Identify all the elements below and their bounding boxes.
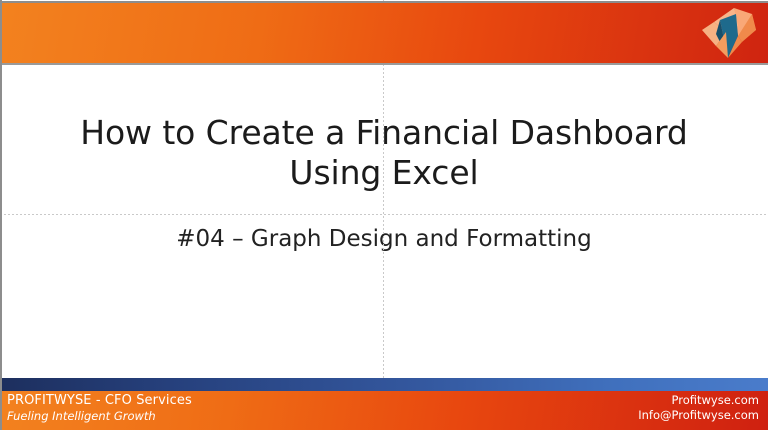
slide-subtitle-text: #04 – Graph Design and Formatting <box>0 224 768 254</box>
slide-title-text: How to Create a Financial Dashboard Usin… <box>0 113 768 193</box>
footer-branding: PROFITWYSE - CFO Services Fueling Intell… <box>7 393 192 424</box>
slide-subtitle: #04 – Graph Design and Formatting <box>0 224 768 254</box>
slide-header-banner <box>0 1 768 65</box>
slide-footer: PROFITWYSE - CFO Services Fueling Intell… <box>0 378 768 430</box>
page-title: How to Create a Financial Dashboard Usin… <box>0 113 768 193</box>
footer-contact: Profitwyse.com Info@Profitwyse.com <box>638 393 759 423</box>
footer-tagline: Fueling Intelligent Growth <box>7 409 192 424</box>
slide-left-edge <box>0 0 2 430</box>
presentation-slide: How to Create a Financial Dashboard Usin… <box>0 0 768 430</box>
footer-blue-bar <box>0 378 768 391</box>
guide-line-horizontal <box>0 214 768 215</box>
profitwyse-diamond-logo-icon <box>698 2 760 60</box>
footer-email[interactable]: Info@Profitwyse.com <box>638 408 759 423</box>
footer-website[interactable]: Profitwyse.com <box>638 393 759 408</box>
footer-company-name: PROFITWYSE - CFO Services <box>7 393 192 409</box>
